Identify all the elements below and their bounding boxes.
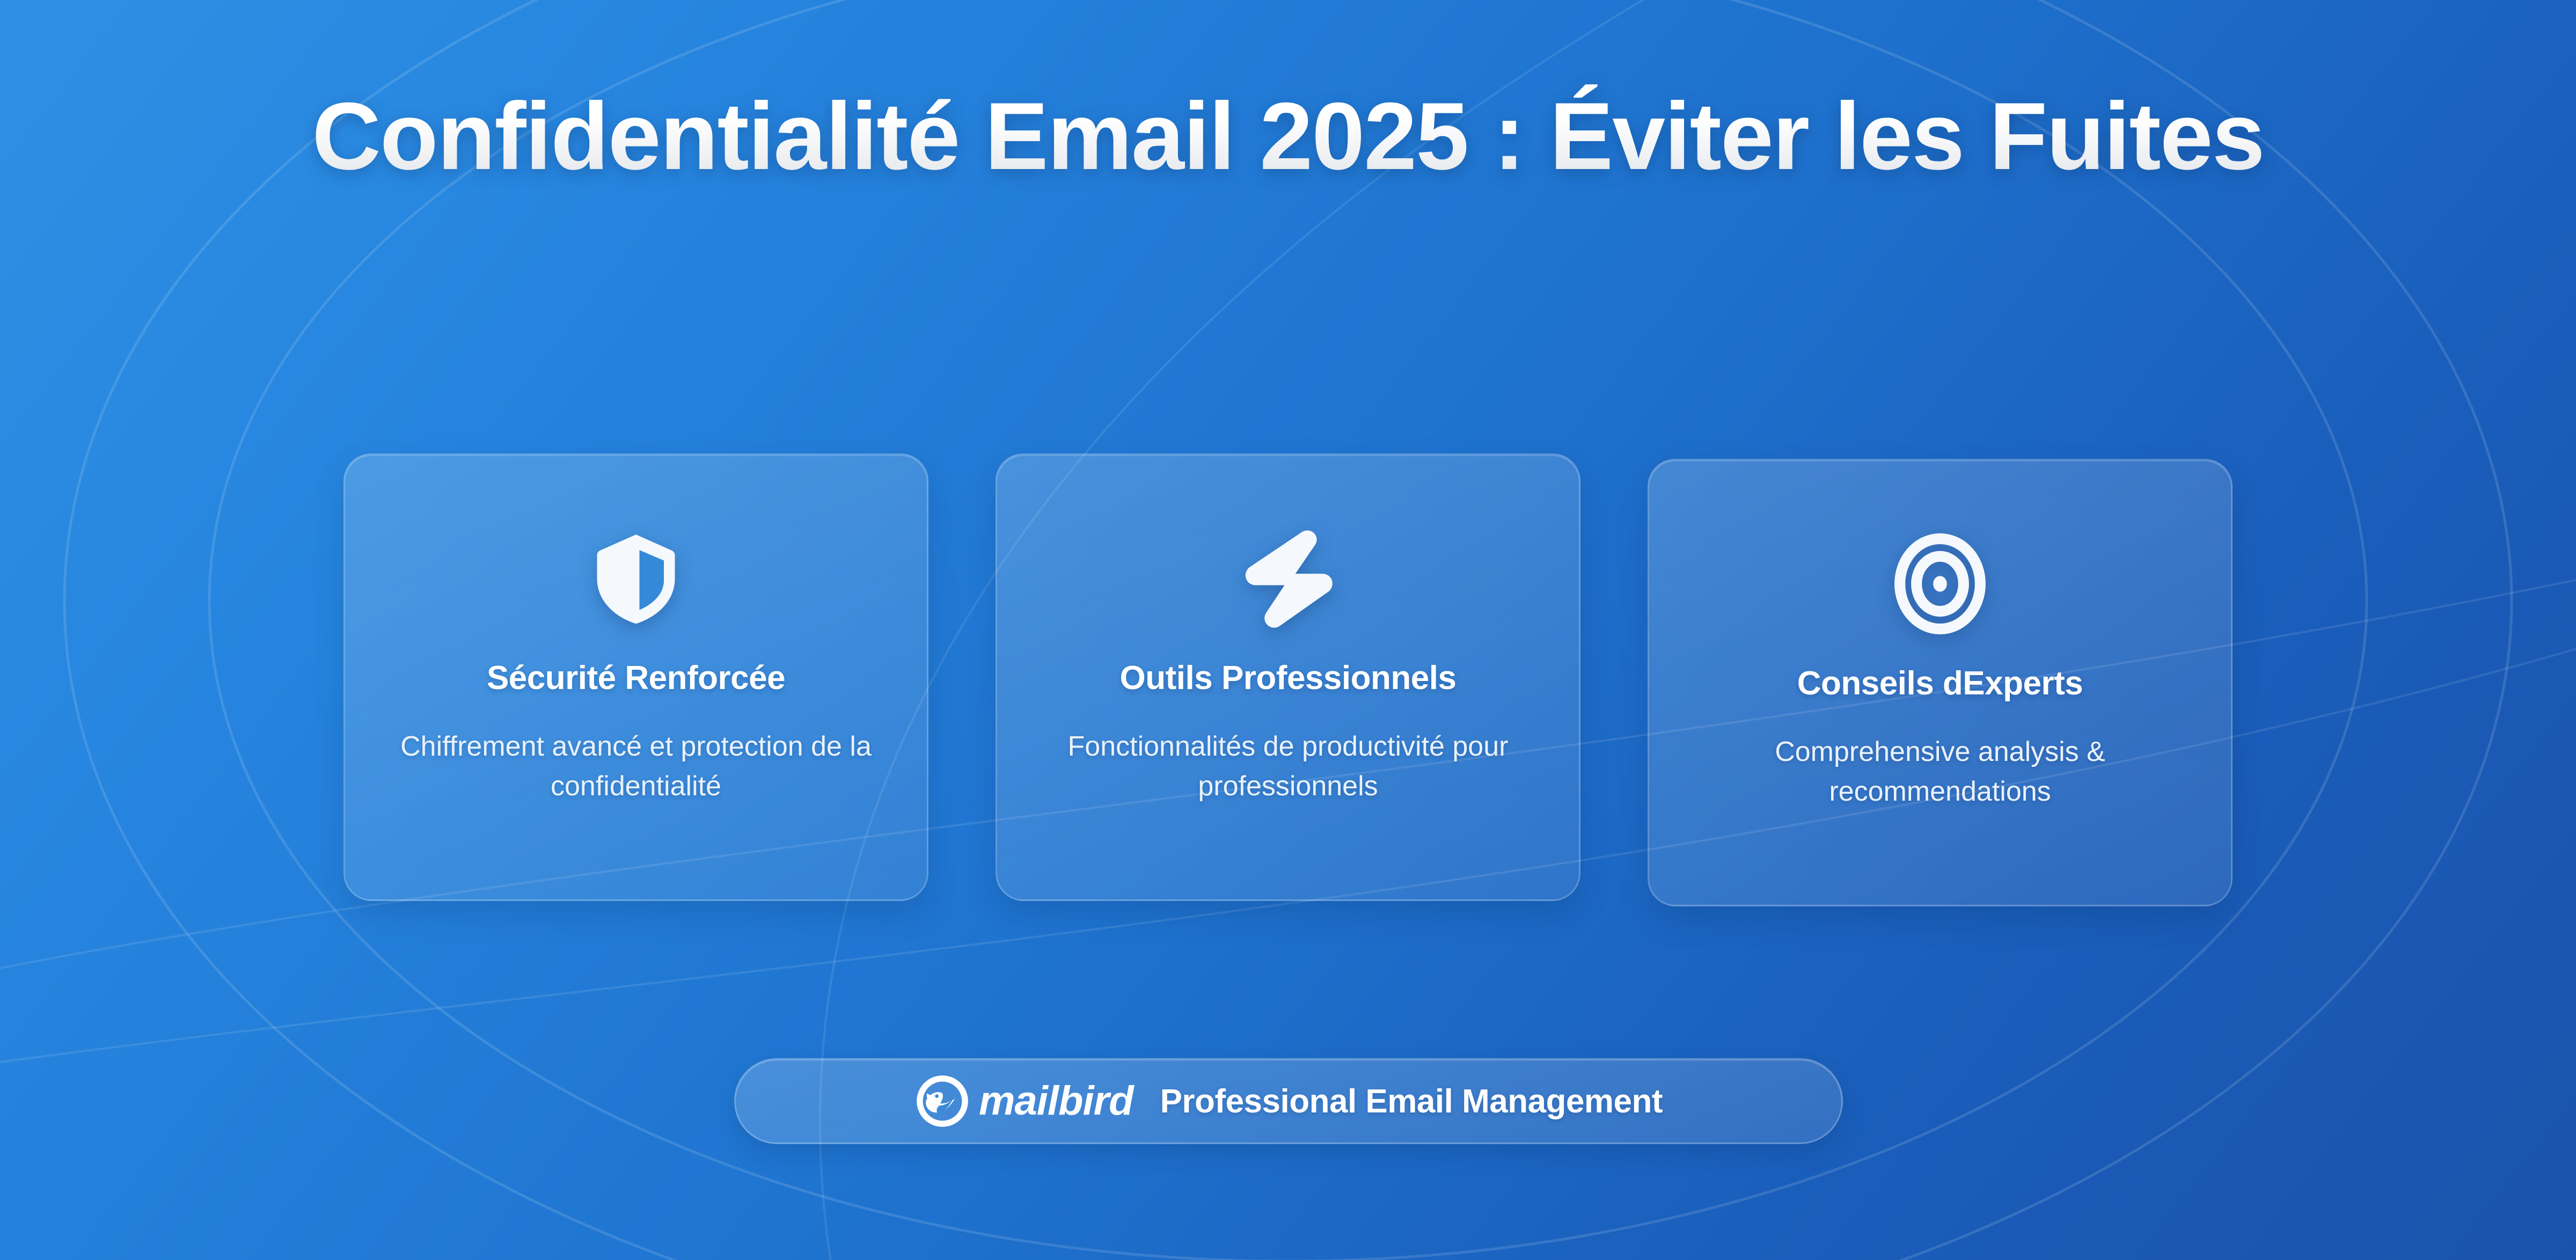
shield-icon [582, 525, 690, 632]
brand-tagline: Professional Email Management [1160, 1082, 1663, 1120]
feature-card-description: Chiffrement avancé et protection de la c… [387, 727, 885, 807]
page-title-block: Confidentialité Email 2025 : Éviter les … [0, 80, 2576, 192]
feature-card-security[interactable]: Sécurité Renforcée Chiffrement avancé et… [343, 453, 928, 901]
page-title: Confidentialité Email 2025 : Éviter les … [301, 80, 2275, 192]
brand-badge[interactable]: mailbird Professional Email Management [734, 1058, 1843, 1144]
mailbird-wordmark: mailbird [979, 1081, 1133, 1122]
mailbird-logo: mailbird [914, 1073, 1133, 1129]
feature-card-title: Conseils dExperts [1797, 664, 2083, 702]
target-icon [1886, 530, 1994, 638]
feature-card-description: Fonctionnalités de productivité pour pro… [1039, 727, 1537, 807]
feature-card-title: Sécurité Renforcée [487, 659, 785, 697]
feature-card-expert-advice[interactable]: Conseils dExperts Comprehensive analysis… [1648, 459, 2233, 906]
feature-card-description: Comprehensive analysis & recommendations [1691, 732, 2189, 812]
feature-card-title: Outils Professionnels [1120, 659, 1457, 697]
feature-card-tools[interactable]: Outils Professionnels Fonctionnalités de… [996, 453, 1580, 901]
mailbird-bird-icon [914, 1073, 970, 1129]
lightning-bolt-icon [1234, 525, 1342, 632]
feature-cards: Sécurité Renforcée Chiffrement avancé et… [343, 453, 2233, 904]
